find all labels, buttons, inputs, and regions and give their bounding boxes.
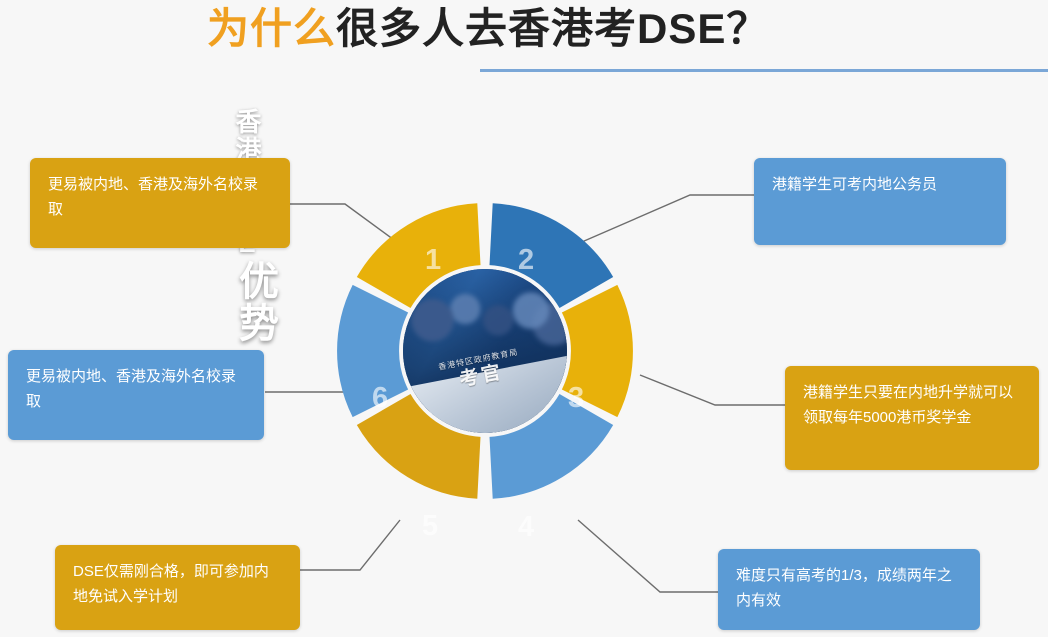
donut-segment-3 xyxy=(590,299,602,404)
callout-1-text: 更易被内地、香港及海外名校录取 xyxy=(48,176,258,218)
callout-6[interactable]: 更易被内地、香港及海外名校录取 xyxy=(8,350,264,440)
callout-3[interactable]: 港籍学生只要在内地升学就可以领取每年5000港币奖学金 xyxy=(785,366,1039,470)
center-label-big: 优势 xyxy=(232,260,278,344)
callout-2[interactable]: 港籍学生可考内地公务员 xyxy=(754,158,1006,245)
callout-5[interactable]: DSE仅需刚合格，即可参加内地免试入学计划 xyxy=(55,545,300,630)
callout-2-text: 港籍学生可考内地公务员 xyxy=(772,176,937,193)
donut-chart: 1 2 3 4 5 6 香港特区政府教育局 考官 xyxy=(330,196,640,506)
callout-4[interactable]: 难度只有高考的1/3，成绩两年之内有效 xyxy=(718,549,980,630)
callout-4-text: 难度只有高考的1/3，成绩两年之内有效 xyxy=(736,567,952,609)
callout-1[interactable]: 更易被内地、香港及海外名校录取 xyxy=(30,158,290,248)
page-title-rest: 很多人去香港考DSE？ xyxy=(336,5,769,52)
page-title-highlight: 为什么 xyxy=(207,5,336,52)
donut-segment-6 xyxy=(368,299,380,404)
center-photo-people xyxy=(403,279,567,354)
center-photo: 香港特区政府教育局 考官 xyxy=(403,269,567,433)
callout-6-text: 更易被内地、香港及海外名校录取 xyxy=(26,368,236,410)
donut-number-4: 4 xyxy=(518,511,534,544)
page-title-block: 为什么很多人去香港考DSE？ xyxy=(207,0,857,76)
callout-5-text: DSE仅需刚合格，即可参加内地免试入学计划 xyxy=(73,563,269,605)
page-title: 为什么很多人去香港考DSE？ xyxy=(207,0,769,58)
callout-3-text: 港籍学生只要在内地升学就可以领取每年5000港币奖学金 xyxy=(803,384,1013,426)
donut-number-5: 5 xyxy=(422,510,438,543)
